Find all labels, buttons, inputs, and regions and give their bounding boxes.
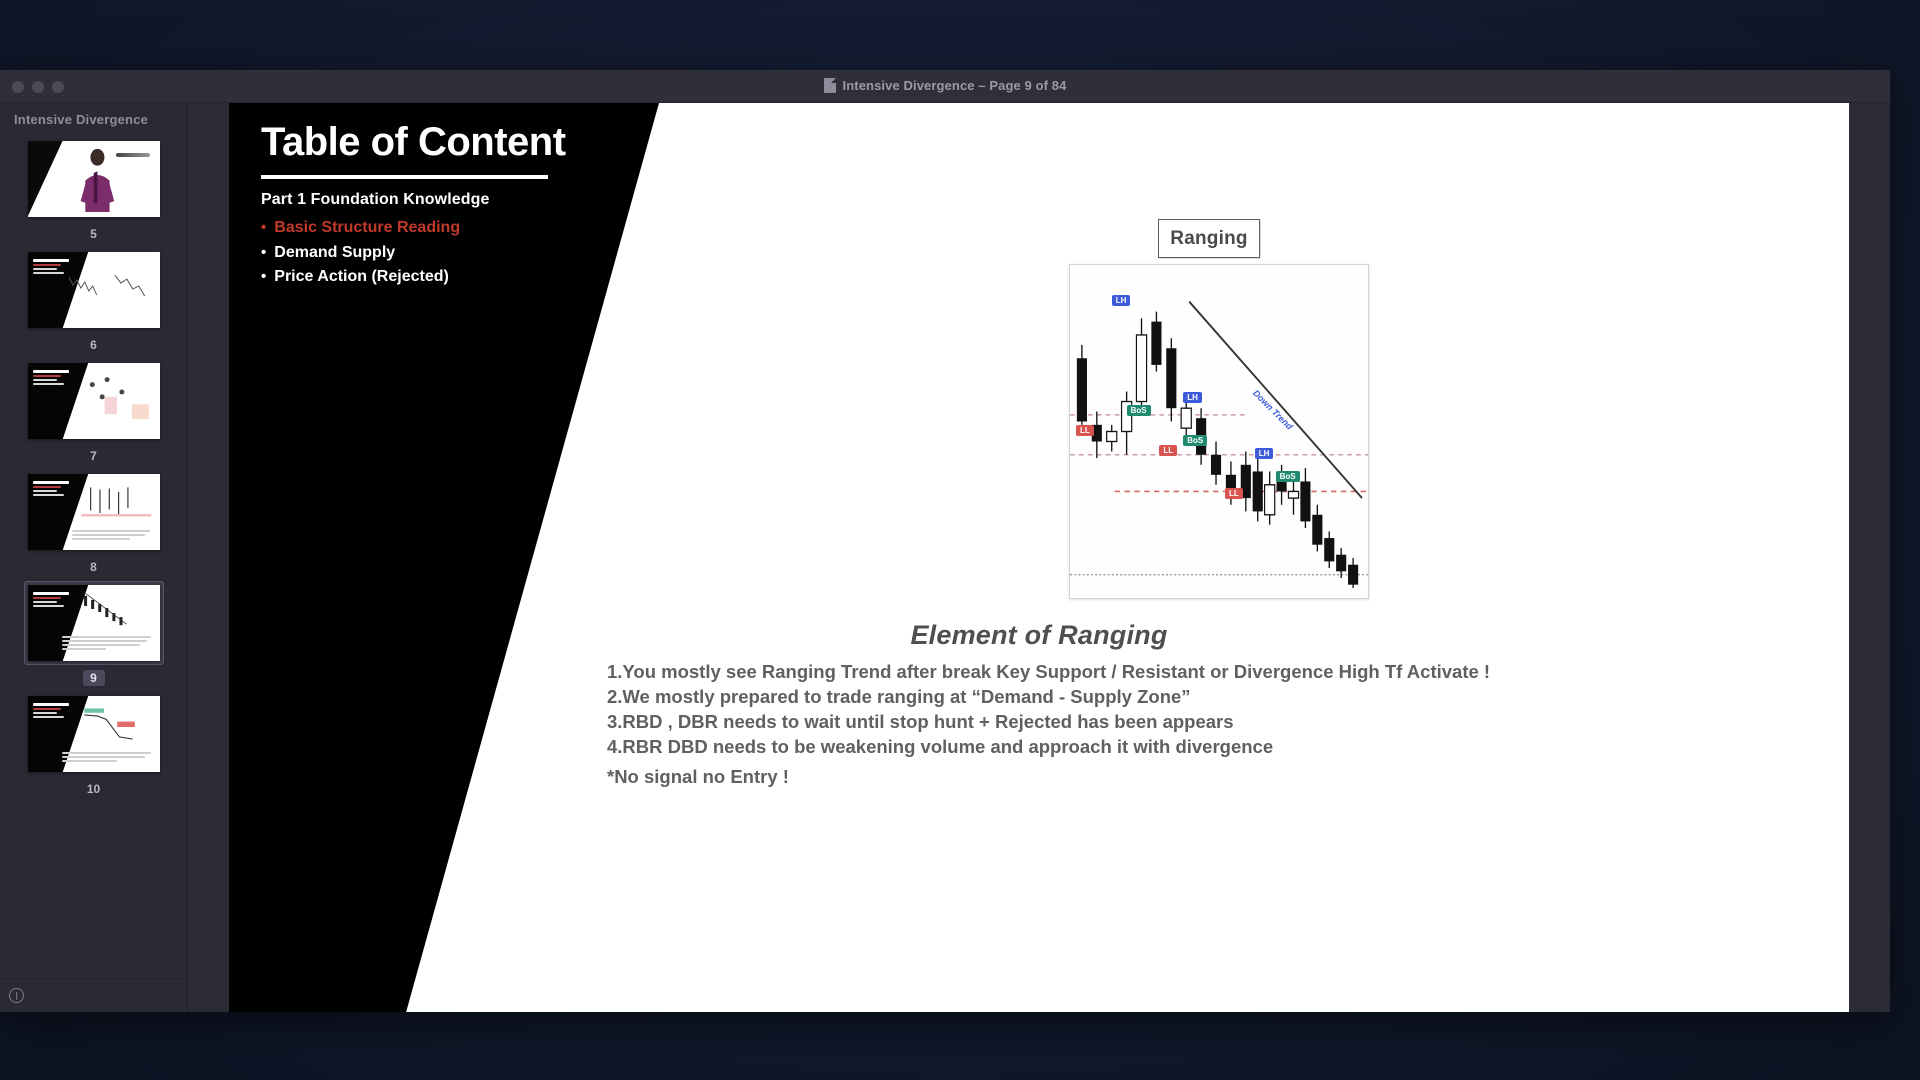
- thumbnail-image: [28, 252, 160, 328]
- candle: [1226, 461, 1236, 504]
- sidebar-toolbar: [0, 978, 187, 1012]
- title-divider: [261, 175, 548, 179]
- thumbnail-item[interactable]: 6: [0, 246, 187, 357]
- person-illustration: [75, 147, 120, 212]
- thumbnail-image: [28, 696, 160, 772]
- list-item: 1.You mostly see Ranging Trend after bre…: [607, 659, 1707, 684]
- thumbnail-image: [28, 141, 160, 217]
- toc-item-label: Demand Supply: [274, 241, 395, 265]
- thumbnail-toc-lines: [33, 703, 73, 720]
- thumbnail-body-lines: [62, 752, 155, 764]
- slide-stage: Table of Content Part 1 Foundation Knowl…: [188, 103, 1890, 1012]
- thumbnail-frame[interactable]: [24, 470, 164, 554]
- thumbnail-item[interactable]: 5: [0, 135, 187, 246]
- candle: [1151, 312, 1161, 372]
- window-titlebar: Intensive Divergence – Page 9 of 84: [0, 70, 1890, 103]
- thumbnail-list[interactable]: 5: [0, 135, 187, 801]
- thumbnail-page-number: 10: [82, 781, 105, 797]
- candle-series: [1077, 312, 1358, 588]
- candle: [1324, 531, 1334, 568]
- bullet-icon: •: [261, 245, 266, 260]
- list-item: 4.RBR DBD needs to be weakening volume a…: [607, 734, 1707, 759]
- thumbnail-image: [28, 585, 160, 661]
- note-text: *No signal no Entry !: [607, 766, 789, 788]
- candle: [1107, 425, 1117, 452]
- candle: [1136, 318, 1146, 411]
- candle: [1181, 398, 1191, 438]
- window-title-group: Intensive Divergence – Page 9 of 84: [0, 78, 1890, 93]
- thumbnail-image: [28, 363, 160, 439]
- mini-chart: [112, 264, 152, 308]
- element-of-ranging-list: 1.You mostly see Ranging Trend after bre…: [607, 659, 1707, 760]
- thumbnail-item[interactable]: 8: [0, 468, 187, 579]
- thumbnail-frame[interactable]: [24, 248, 164, 332]
- toc-item-demand-supply[interactable]: • Demand Supply: [261, 241, 601, 265]
- thumbnail-item[interactable]: 10: [0, 690, 187, 801]
- candle: [1166, 338, 1176, 421]
- candle: [1077, 345, 1087, 425]
- bullet-icon: •: [261, 220, 266, 235]
- app-window: Intensive Divergence – Page 9 of 84 Inte…: [0, 70, 1890, 1012]
- candlestick-chart-panel: LH LL BoS LH LL BoS LH LL BoS Down Trend: [1069, 264, 1369, 599]
- candle: [1196, 408, 1206, 465]
- thumbnail-toc-lines: [33, 481, 73, 498]
- thumbnail-page-number: 7: [83, 448, 105, 464]
- thumbnail-item[interactable]: 7: [0, 357, 187, 468]
- thumbnail-toc-lines: [33, 370, 73, 387]
- list-item: 3.RBD , DBR needs to wait until stop hun…: [607, 709, 1707, 734]
- section-title-text: Element of Ranging: [910, 620, 1167, 651]
- slide-page: Table of Content Part 1 Foundation Knowl…: [229, 103, 1849, 1012]
- table-of-content: Table of Content Part 1 Foundation Knowl…: [261, 121, 601, 289]
- thumbnail-item-selected[interactable]: 9: [0, 579, 187, 690]
- toc-item-label: Basic Structure Reading: [274, 216, 460, 240]
- thumbnail-sidebar[interactable]: Intensive Divergence: [0, 103, 188, 1012]
- candle: [1241, 451, 1251, 511]
- toc-item-label: Price Action (Rejected): [274, 265, 449, 289]
- mini-chart: [67, 264, 107, 308]
- candle: [1312, 505, 1322, 552]
- sidebar-document-title: Intensive Divergence: [0, 103, 187, 135]
- candle: [1265, 471, 1275, 524]
- window-title: Intensive Divergence – Page 9 of 84: [843, 78, 1067, 93]
- thumbnail-frame[interactable]: [24, 359, 164, 443]
- mini-chart: [80, 372, 154, 427]
- mini-chart: [80, 591, 141, 629]
- thumbnail-frame[interactable]: [24, 137, 164, 221]
- toc-subtitle: Part 1 Foundation Knowledge: [261, 191, 601, 209]
- candle: [1253, 455, 1263, 522]
- thumbnail-page-number: 6: [83, 337, 105, 353]
- list-item: 2.We mostly prepared to trade ranging at…: [607, 684, 1707, 709]
- thumbnail-page-number: 5: [83, 226, 105, 242]
- thumbnail-body-lines: [62, 636, 155, 652]
- mini-chart: [75, 704, 146, 744]
- thumbnail-image: [28, 474, 160, 550]
- section-title: Element of Ranging: [229, 620, 1849, 651]
- candle: [1092, 412, 1102, 459]
- ranging-heading-box: Ranging: [1158, 219, 1260, 258]
- thumbnail-page-number: 9: [83, 670, 105, 686]
- slide-logo: [116, 153, 150, 157]
- info-circle-icon[interactable]: [9, 988, 24, 1003]
- candle: [1211, 441, 1221, 484]
- slide-wedge-shape: [28, 141, 73, 217]
- thumbnail-toc-lines: [33, 592, 73, 609]
- document-icon: [824, 78, 836, 93]
- page-title: Table of Content: [261, 121, 601, 164]
- thumbnail-body-lines: [72, 530, 154, 542]
- thumbnail-frame[interactable]: [24, 692, 164, 776]
- candle: [1336, 548, 1346, 578]
- candlestick-chart: [1070, 265, 1368, 598]
- bullet-icon: •: [261, 269, 266, 284]
- toc-item-price-action[interactable]: • Price Action (Rejected): [261, 265, 601, 289]
- candle: [1288, 475, 1298, 515]
- candle: [1277, 465, 1287, 505]
- toc-item-basic-structure-reading[interactable]: • Basic Structure Reading: [261, 216, 601, 240]
- thumbnail-frame[interactable]: [24, 581, 164, 665]
- candle: [1122, 392, 1132, 455]
- candle: [1348, 558, 1358, 588]
- mini-chart: [78, 485, 155, 520]
- thumbnail-page-number: 8: [83, 559, 105, 575]
- candle: [1300, 468, 1310, 528]
